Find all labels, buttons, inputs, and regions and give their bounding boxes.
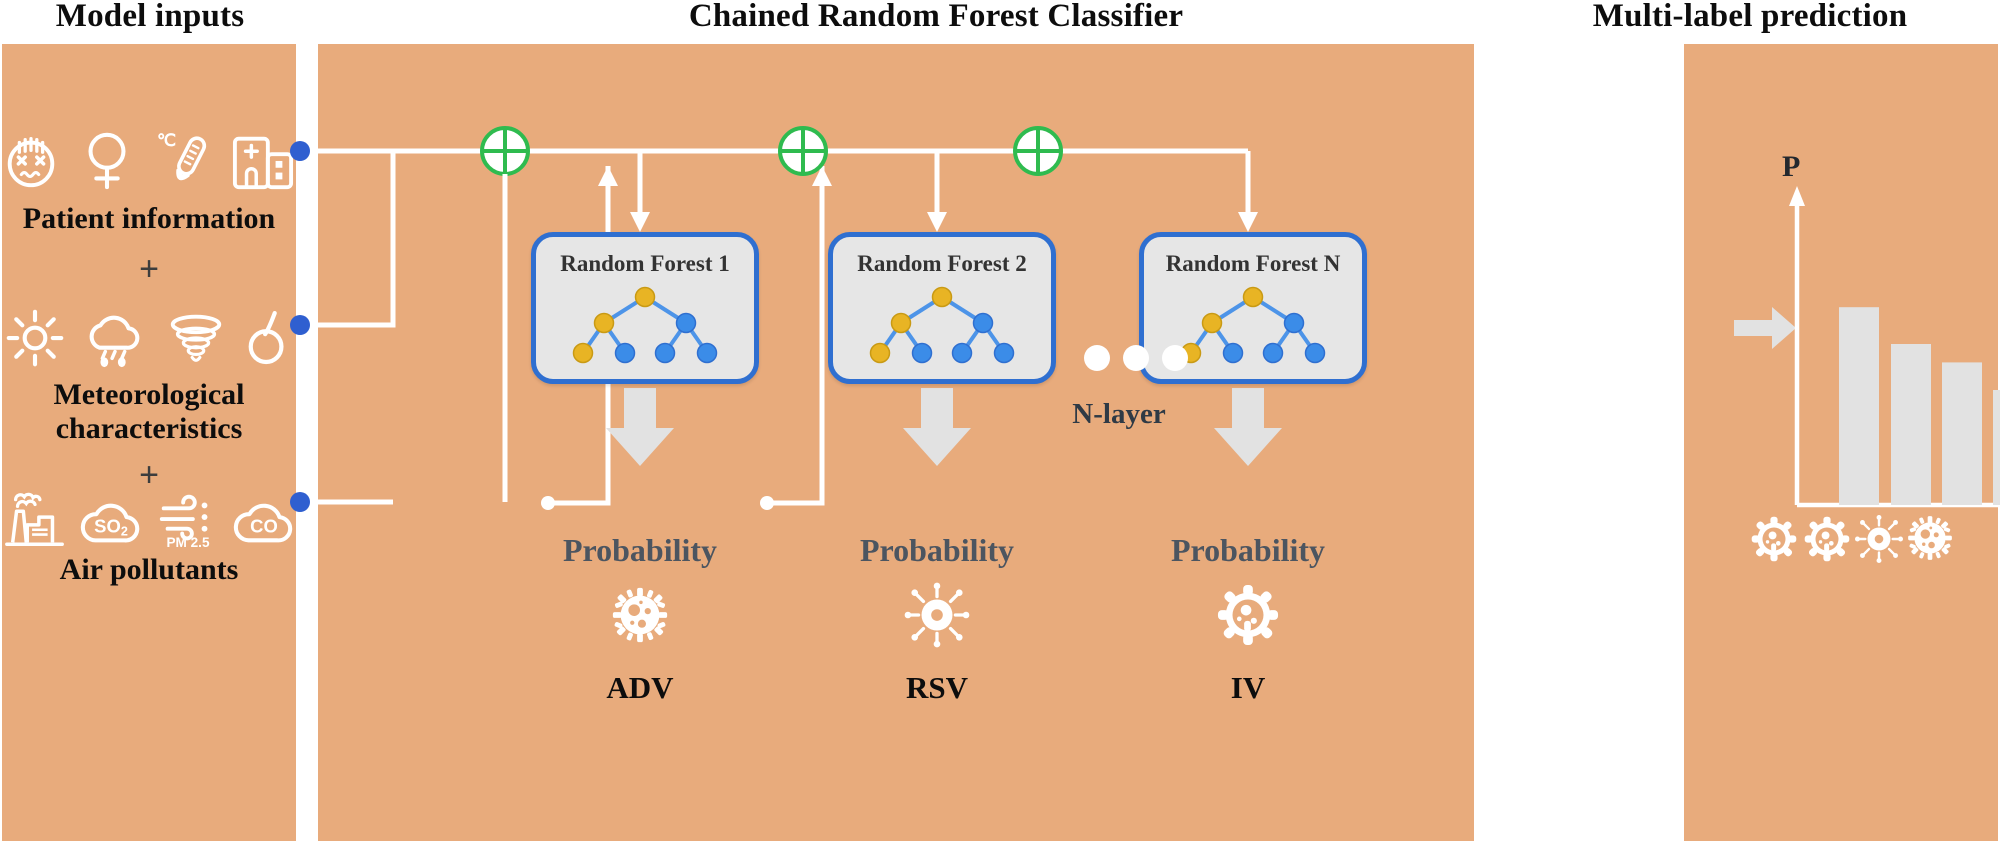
influenza-virus-icon bbox=[1804, 516, 1850, 562]
influenza-virus-icon bbox=[1217, 584, 1279, 646]
chart-bars bbox=[1839, 307, 2000, 505]
virus-label-iv: IV bbox=[1139, 670, 1357, 706]
probability-arrow-rsv bbox=[903, 388, 971, 466]
random-forest-box-1[interactable]: Random Forest 1 bbox=[531, 232, 759, 384]
forest-input-arrowheads bbox=[630, 212, 1258, 232]
rsv-virus-icon bbox=[1856, 516, 1902, 562]
bar-4 bbox=[1993, 390, 2000, 505]
concat-node-3 bbox=[1015, 128, 1061, 174]
input-connector-dots bbox=[290, 141, 310, 512]
prediction-bar-chart bbox=[1684, 160, 2000, 720]
ellipsis-dot bbox=[1123, 345, 1149, 371]
ellipsis-dot bbox=[1084, 345, 1110, 371]
probability-label-rsv: Probability bbox=[828, 532, 1046, 569]
bar-2 bbox=[1891, 344, 1931, 505]
rsv-virus-icon bbox=[906, 584, 968, 646]
adenovirus-icon bbox=[1905, 513, 1955, 563]
probability-arrow-iv bbox=[1214, 388, 1282, 466]
ellipsis-dot bbox=[1162, 345, 1188, 371]
concat-node-1 bbox=[482, 128, 528, 174]
bar-3 bbox=[1942, 362, 1982, 505]
bar-1 bbox=[1839, 307, 1879, 505]
return-line-dot bbox=[541, 496, 555, 510]
n-layer-dots bbox=[1084, 345, 1188, 371]
y-axis-arrowhead bbox=[1789, 186, 1805, 206]
n-layer-label: N-layer bbox=[1044, 398, 1194, 431]
virus-label-rsv: RSV bbox=[828, 670, 1046, 706]
probability-label-iv: Probability bbox=[1139, 532, 1357, 569]
random-forest-box-2[interactable]: Random Forest 2 bbox=[828, 232, 1056, 384]
decision-tree-graphic-1 bbox=[536, 237, 754, 379]
decision-tree-graphic-2 bbox=[833, 237, 1051, 379]
adenovirus-icon bbox=[609, 584, 671, 646]
influenza-virus-icon bbox=[1751, 516, 1797, 562]
figure-canvas: Model inputs Chained Random Forest Class… bbox=[0, 0, 2000, 843]
return-line-dot bbox=[760, 496, 774, 510]
right-arrow-icon bbox=[1734, 307, 1796, 349]
probability-arrow-adv bbox=[606, 388, 674, 466]
probability-label-adv: Probability bbox=[531, 532, 749, 569]
virus-label-adv: ADV bbox=[531, 670, 749, 706]
concat-node-2 bbox=[780, 128, 826, 174]
